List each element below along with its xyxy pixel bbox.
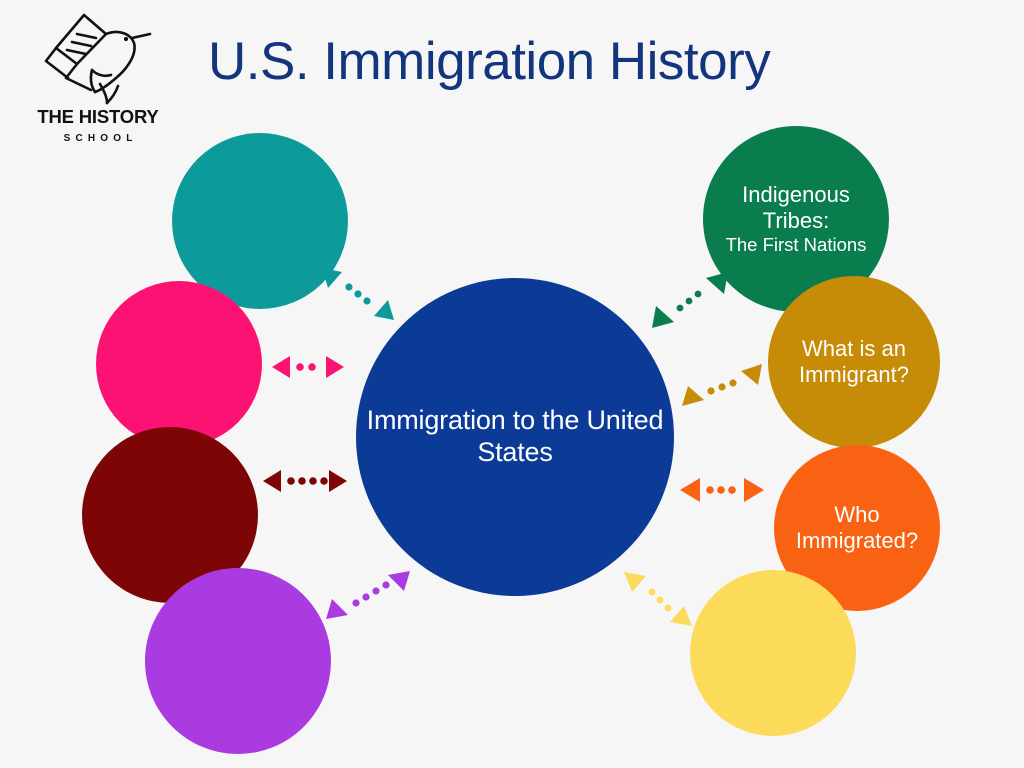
connector-arrow-pink	[268, 350, 348, 384]
bubble-label-indigenous-tribes: Indigenous Tribes:	[703, 182, 889, 234]
page-title: U.S. Immigration History	[208, 33, 770, 91]
bubble-node-center[interactable]: Immigration to the United States	[356, 278, 674, 596]
bubble-label-who-immigrated: Who Immigrated?	[774, 502, 940, 554]
hummingbird-book-icon	[44, 12, 152, 106]
bubble-sublabel-indigenous-tribes: The First Nations	[703, 234, 889, 256]
slide-canvas: THE HISTORY SCHOOL U.S. Immigration Hist…	[0, 0, 1024, 768]
bubble-node-purple[interactable]	[145, 568, 331, 754]
connector-arrow-yellow	[618, 566, 698, 632]
bubble-node-pink[interactable]	[96, 281, 262, 447]
bubble-node-what-is-an-immigrant[interactable]: What is an Immigrant?	[768, 276, 940, 448]
logo-subwordmark: SCHOOL	[18, 134, 178, 144]
connector-arrow-gold	[678, 358, 768, 414]
bubble-label-center: Immigration to the United States	[356, 405, 674, 469]
logo-wordmark: THE HISTORY	[18, 108, 178, 127]
bubble-node-yellow[interactable]	[690, 570, 856, 736]
connector-arrow-green	[646, 268, 734, 334]
connector-arrow-purple	[320, 565, 416, 625]
connector-arrow-maroon	[259, 464, 351, 498]
connector-arrow-orange	[676, 472, 768, 508]
brand-logo: THE HISTORY SCHOOL	[18, 12, 178, 152]
bubble-label-what-is-an-immigrant: What is an Immigrant?	[768, 336, 940, 388]
